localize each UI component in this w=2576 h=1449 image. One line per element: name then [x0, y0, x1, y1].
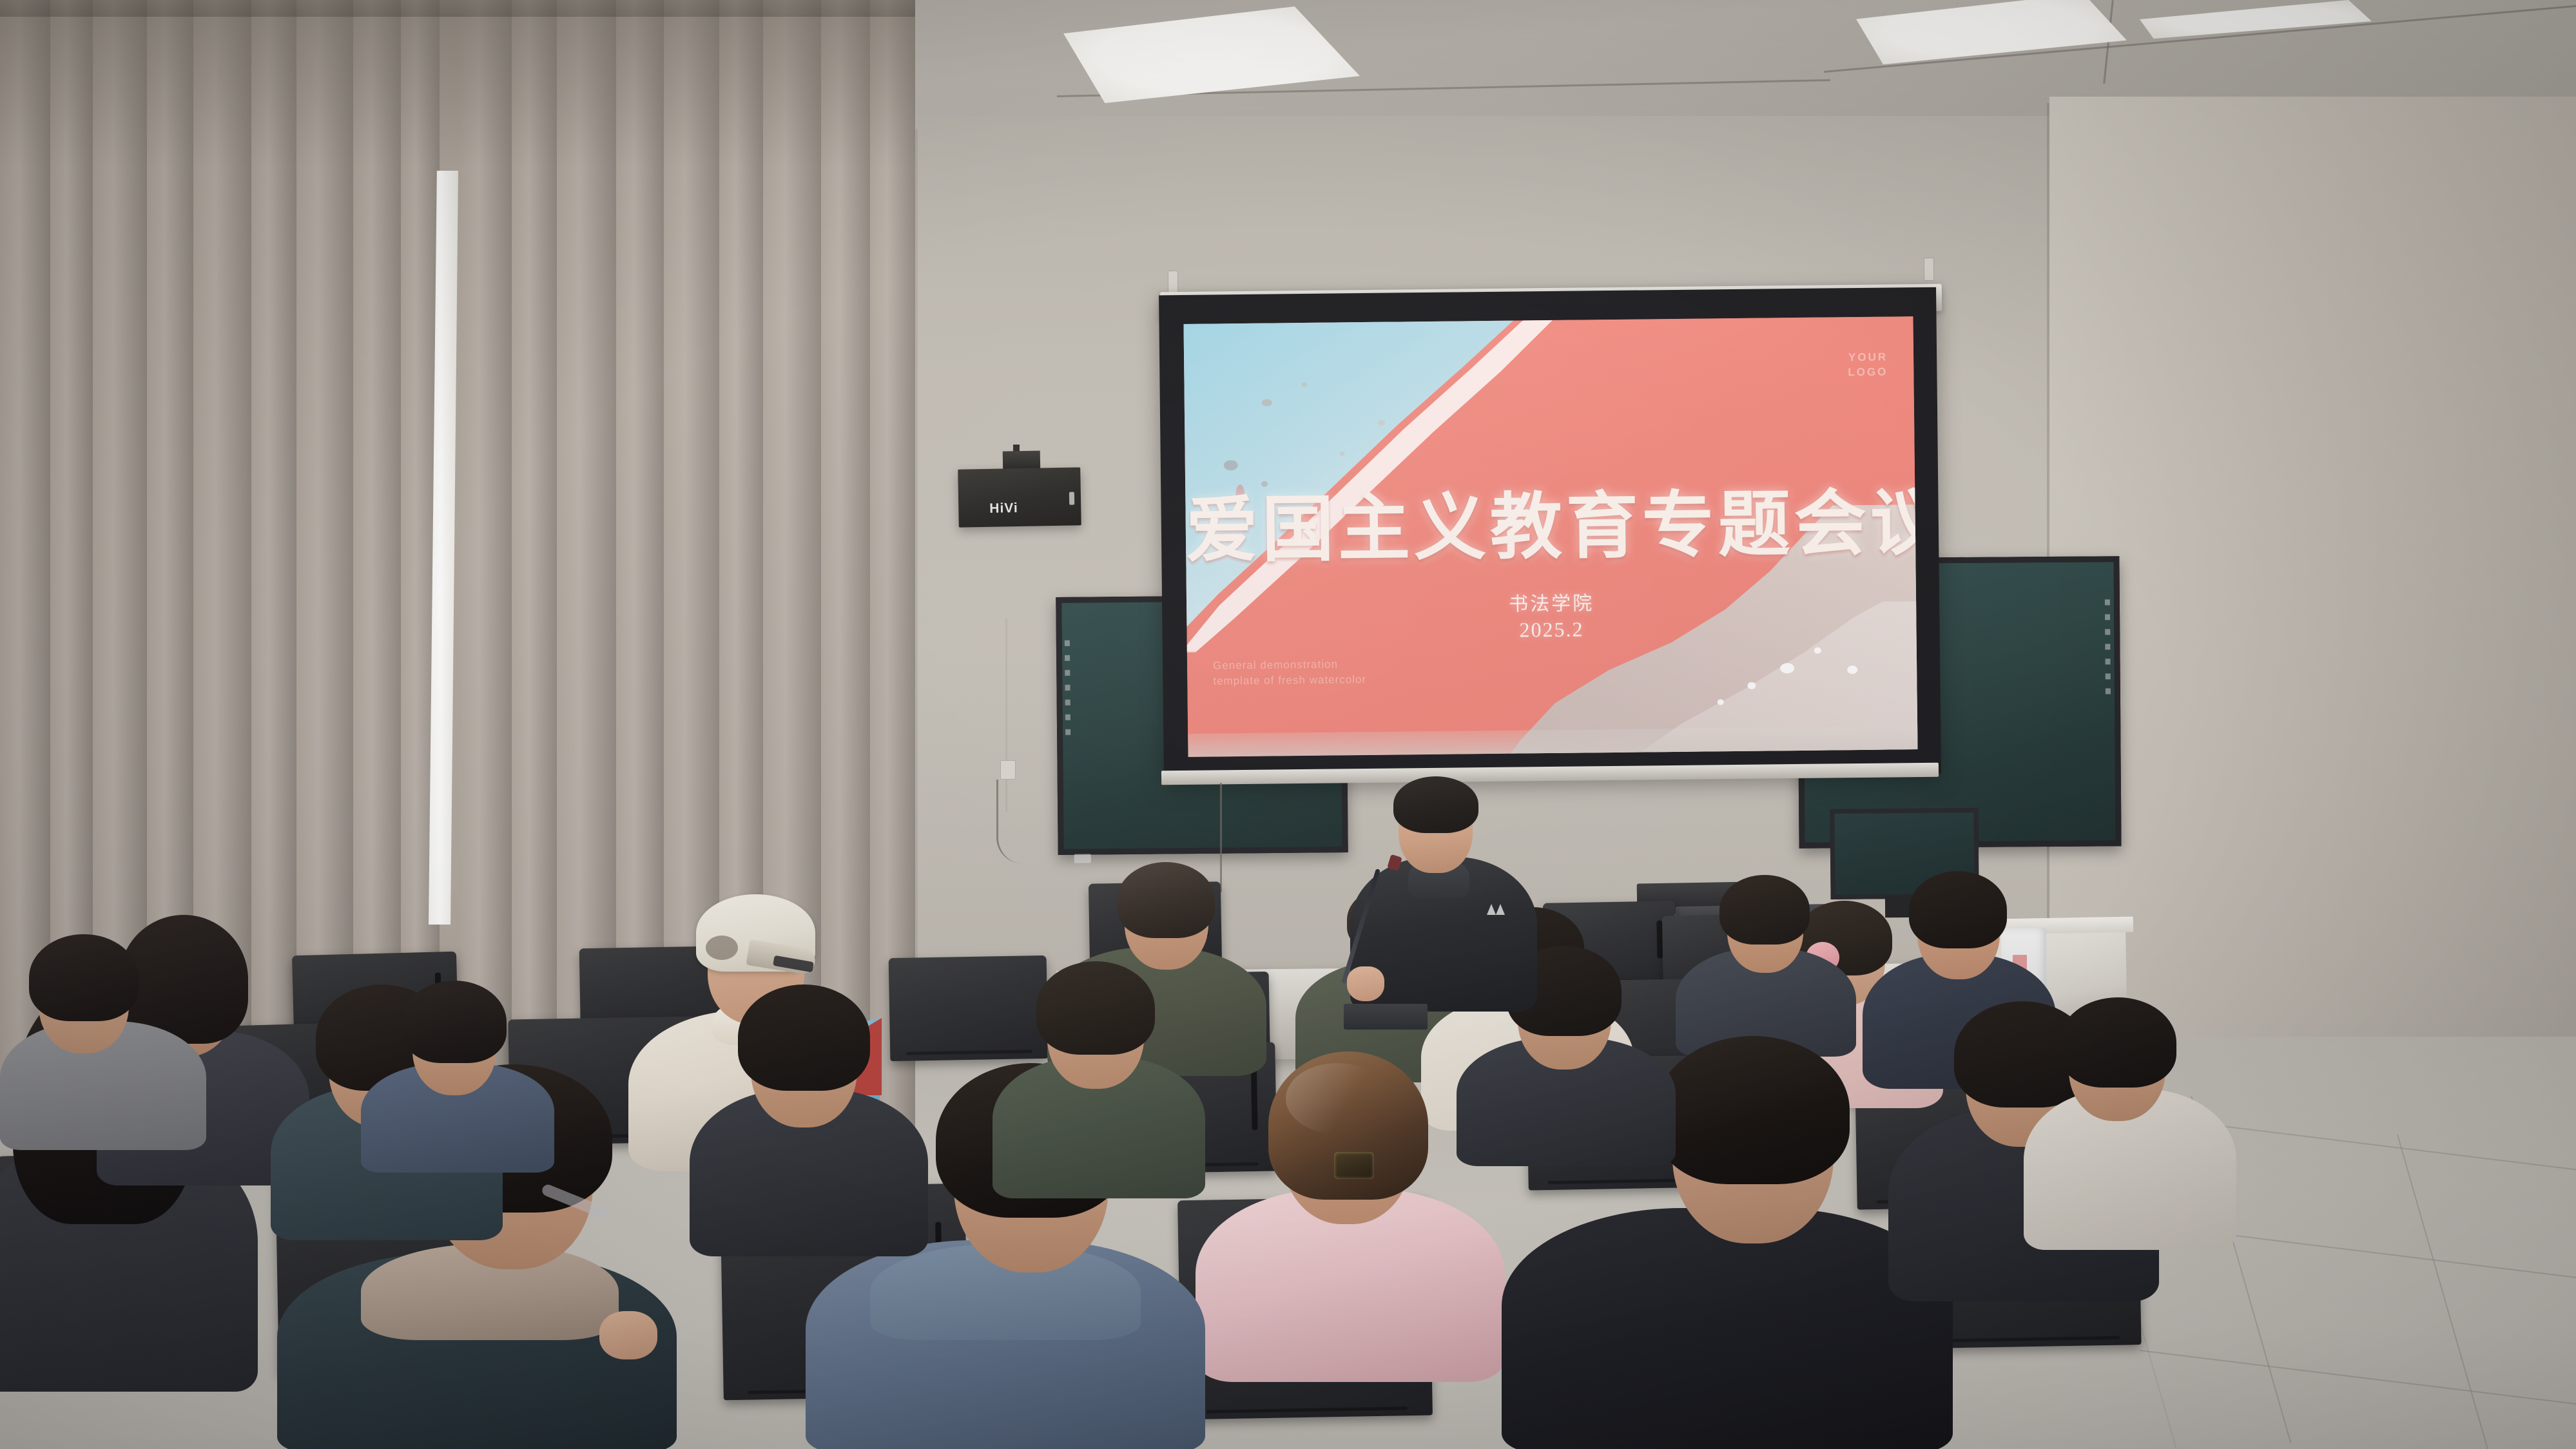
- curtain-pleat: [251, 0, 296, 1134]
- sand-speck: [1718, 699, 1724, 705]
- speaker-brand-label: HiVi: [989, 501, 1018, 517]
- north-face-logo-icon: [1486, 902, 1507, 916]
- panel-button-strip[interactable]: [2105, 599, 2112, 728]
- presentation-slide: YOUR LOGO 爱国主义教育专题会议 书法学院 2025.2 General…: [1184, 316, 1918, 757]
- slide-logo-line2: LOGO: [1848, 365, 1888, 380]
- hanging-cable: [996, 780, 1022, 863]
- slide-footnote: General demonstration template of fresh …: [1213, 657, 1366, 690]
- presenter-hand: [1347, 966, 1384, 1001]
- sand-speck: [1847, 666, 1857, 674]
- wall-seam: [915, 129, 918, 1082]
- panel-button-strip[interactable]: [1065, 640, 1072, 769]
- curtain-pleat: [512, 0, 557, 1134]
- speaker-led-icon: [1069, 492, 1074, 505]
- watercolor-splatter: [1301, 382, 1307, 387]
- hair-highlight: [1286, 1063, 1389, 1134]
- person-torso: [1502, 1208, 1953, 1449]
- lectern-paper: [1344, 1004, 1428, 1030]
- person-hair: [29, 934, 139, 1021]
- slide-logo-placeholder: YOUR LOGO: [1848, 350, 1888, 381]
- person-hair: [1909, 871, 2007, 948]
- person-hair: [402, 981, 507, 1063]
- hanging-cable: [1220, 783, 1222, 892]
- person-hair: [738, 984, 870, 1091]
- slide-footnote-line1: General demonstration: [1213, 657, 1366, 674]
- wall-outlet: [1000, 760, 1016, 780]
- meeting-room-photo: HiVi: [0, 0, 2576, 1449]
- sand-speck: [1747, 682, 1756, 689]
- sand-speck: [1814, 648, 1821, 654]
- curtain-pleat: [459, 0, 512, 1134]
- screen-bracket: [1168, 271, 1178, 294]
- panel-brand-badge: [1074, 854, 1091, 863]
- chair[interactable]: [889, 955, 1049, 1061]
- screen-bracket: [1924, 258, 1934, 281]
- slide-footnote-line2: template of fresh watercolor: [1213, 672, 1366, 689]
- person-hair: [1117, 862, 1215, 938]
- wall-speaker: HiVi: [958, 467, 1081, 527]
- person-hand: [599, 1311, 657, 1359]
- person-hair: [1719, 875, 1810, 945]
- cap-strap-hole: [706, 936, 738, 960]
- person-hair: [1656, 1036, 1850, 1184]
- hair-claw-clip: [1334, 1152, 1374, 1179]
- presenter-hair: [1393, 776, 1478, 833]
- slide-title: 爱国主义教育专题会议: [1185, 465, 1916, 577]
- person-hair: [1036, 961, 1155, 1055]
- slide-logo-line1: YOUR: [1848, 350, 1888, 366]
- curtain-shadow: [0, 0, 915, 168]
- watercolor-splatter: [1340, 451, 1345, 456]
- person-hair: [2059, 997, 2176, 1088]
- watercolor-splatter: [1378, 420, 1385, 426]
- curtain-pleat: [821, 0, 870, 1134]
